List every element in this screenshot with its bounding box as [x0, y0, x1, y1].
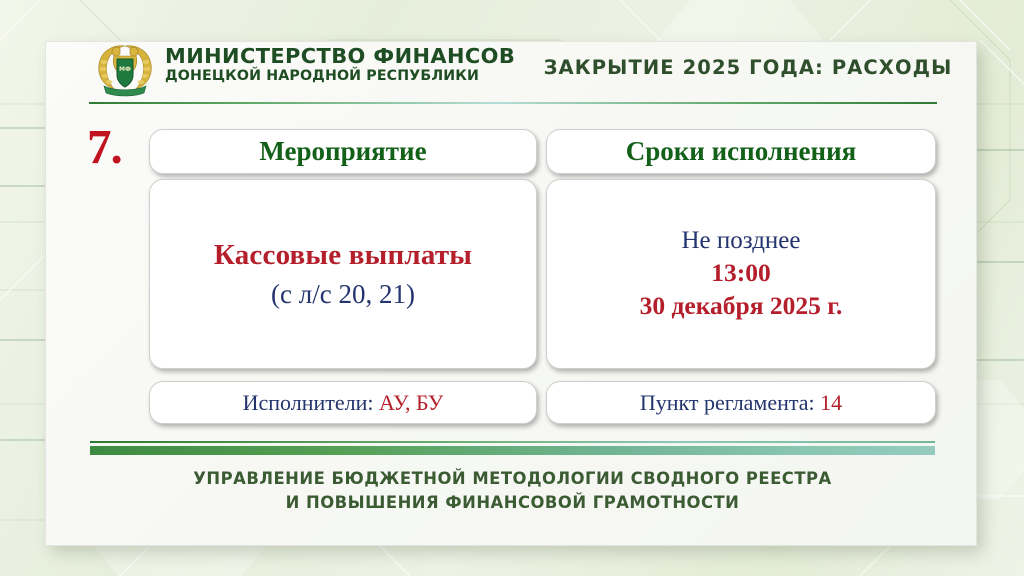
- ministry-emblem-icon: МФ: [92, 42, 158, 98]
- ministry-name-line-1: МИНИСТЕРСТВО ФИНАНСОВ: [165, 46, 515, 67]
- executors-label: Исполнители:: [243, 390, 374, 415]
- item-number: 7.: [87, 118, 122, 175]
- executors-panel: Исполнители: АУ, БУ: [149, 381, 537, 424]
- deadline-time: 13:00: [640, 257, 843, 290]
- footer-divider-thick: [90, 446, 935, 455]
- measure-subtitle: (с л/с 20, 21): [214, 277, 472, 312]
- svg-text:МФ: МФ: [119, 66, 131, 73]
- measure-panel: Кассовые выплаты (с л/с 20, 21): [149, 179, 537, 369]
- measure-content: Кассовые выплаты (с л/с 20, 21): [214, 237, 472, 312]
- executors-row: Исполнители: АУ, БУ: [243, 390, 444, 416]
- regulation-panel: Пункт регламента: 14: [546, 381, 936, 424]
- deadline-panel: Не позднее 13:00 30 декабря 2025 г.: [546, 179, 936, 369]
- regulation-value: 14: [820, 390, 842, 415]
- header-divider-rule: [89, 102, 937, 104]
- department-footer: УПРАВЛЕНИЕ БЮДЖЕТНОЙ МЕТОДОЛОГИИ СВОДНОГ…: [90, 467, 935, 515]
- slide-header: МФ МИНИСТЕРСТВО ФИНАНСОВ ДОНЕЦКОЙ НАРОДН…: [46, 42, 976, 104]
- footer-divider-thin: [90, 441, 935, 443]
- regulation-row: Пункт регламента: 14: [640, 390, 842, 416]
- column-header-measure-label: Мероприятие: [259, 136, 426, 167]
- slide-card: МФ МИНИСТЕРСТВО ФИНАНСОВ ДОНЕЦКОЙ НАРОДН…: [45, 41, 977, 546]
- measure-title: Кассовые выплаты: [214, 237, 472, 274]
- regulation-label: Пункт регламента:: [640, 390, 815, 415]
- deadline-lead: Не позднее: [640, 225, 843, 257]
- column-header-measure: Мероприятие: [149, 129, 537, 174]
- deck-title: ЗАКРЫТИЕ 2025 ГОДА: РАСХОДЫ: [524, 56, 972, 79]
- department-footer-line-1: УПРАВЛЕНИЕ БЮДЖЕТНОЙ МЕТОДОЛОГИИ СВОДНОГ…: [90, 467, 935, 491]
- executors-value: АУ, БУ: [379, 390, 443, 415]
- ministry-name-line-2: ДОНЕЦКОЙ НАРОДНОЙ РЕСПУБЛИКИ: [165, 69, 508, 83]
- column-header-deadline: Сроки исполнения: [546, 129, 936, 174]
- deadline-content: Не позднее 13:00 30 декабря 2025 г.: [640, 225, 843, 322]
- column-header-deadline-label: Сроки исполнения: [626, 136, 857, 167]
- deadline-date: 30 декабря 2025 г.: [640, 290, 843, 323]
- ministry-name-block: МИНИСТЕРСТВО ФИНАНСОВ ДОНЕЦКОЙ НАРОДНОЙ …: [165, 46, 508, 83]
- department-footer-line-2: И ПОВЫШЕНИЯ ФИНАНСОВОЙ ГРАМОТНОСТИ: [90, 491, 935, 515]
